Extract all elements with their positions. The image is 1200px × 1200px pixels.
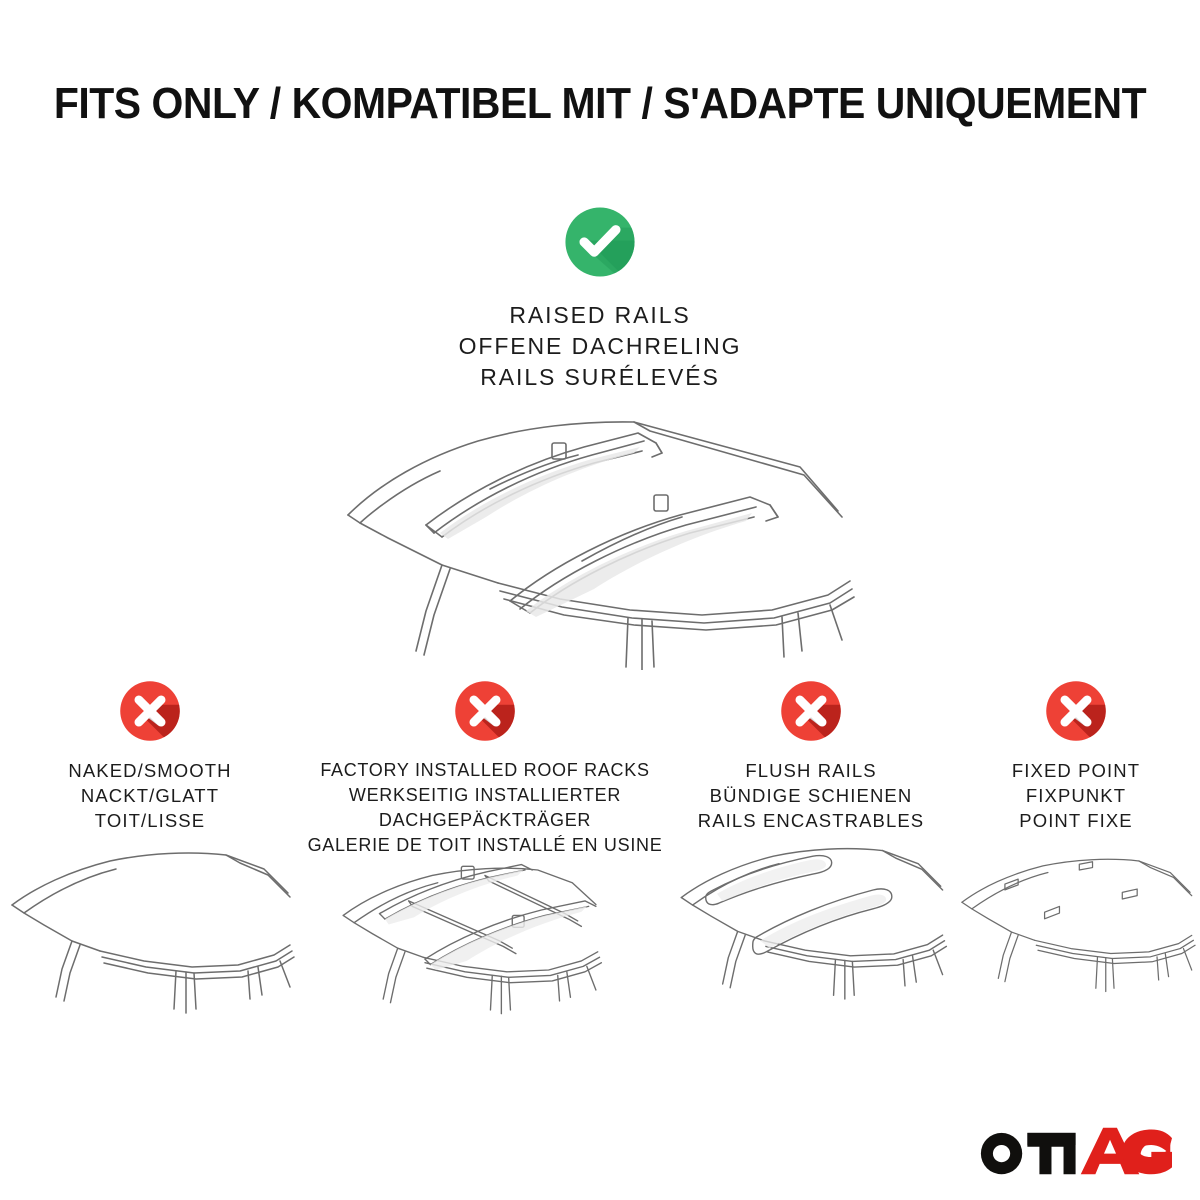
compatible-labels: RAISED RAILS OFFENE DACHRELING RAILS SUR…: [0, 300, 1200, 393]
x-circle-icon: [1045, 680, 1107, 742]
header: FITS ONLY / KOMPATIBEL MIT / S'ADAPTE UN…: [0, 78, 1200, 130]
incompatible-labels: NAKED/SMOOTH NACKT/GLATT TOIT/LISSE: [0, 758, 300, 833]
incompatible-label-fr: POINT FIXE: [952, 808, 1200, 833]
car-roof-raised-rails-illustration: [330, 405, 870, 670]
incompatible-labels: FACTORY INSTALLED ROOF RACKS WERKSEITIG …: [300, 758, 670, 858]
incompatible-labels: FLUSH RAILS BÜNDIGE SCHIENEN RAILS ENCAS…: [670, 758, 952, 833]
compatible-label-fr: RAILS SURÉLEVÉS: [0, 362, 1200, 393]
incompatible-item-naked-smooth: NAKED/SMOOTH NACKT/GLATT TOIT/LISSE: [0, 680, 300, 1047]
incompatible-label-de: NACKT/GLATT: [0, 783, 300, 808]
incompatible-label-fr: GALERIE DE TOIT INSTALLÉ EN USINE: [300, 833, 670, 858]
incompatible-label-en: FIXED POINT: [952, 758, 1200, 783]
incompatible-label-de-1: WERKSEITIG INSTALLIERTER: [300, 783, 670, 808]
compatible-label-de: OFFENE DACHRELING: [0, 331, 1200, 362]
omac-logo: [974, 1120, 1172, 1182]
x-circle-icon: [780, 680, 842, 742]
check-circle-icon: [564, 206, 636, 278]
incompatible-item-flush-rails: FLUSH RAILS BÜNDIGE SCHIENEN RAILS ENCAS…: [670, 680, 952, 1037]
compatible-section: RAISED RAILS OFFENE DACHRELING RAILS SUR…: [0, 206, 1200, 393]
compatible-label-en: RAISED RAILS: [0, 300, 1200, 331]
incompatible-labels: FIXED POINT FIXPUNKT POINT FIXE: [952, 758, 1200, 833]
incompatible-label-de: BÜNDIGE SCHIENEN: [670, 783, 952, 808]
x-circle-icon: [454, 680, 516, 742]
incompatible-label-fr: RAILS ENCASTRABLES: [670, 808, 952, 833]
incompatible-item-factory-roof-racks: FACTORY INSTALLED ROOF RACKS WERKSEITIG …: [300, 680, 670, 1050]
incompatible-label-en: FACTORY INSTALLED ROOF RACKS: [300, 758, 670, 783]
incompatible-label-en: FLUSH RAILS: [670, 758, 952, 783]
incompatible-item-fixed-point: FIXED POINT FIXPUNKT POINT FIXE: [952, 680, 1200, 1037]
car-roof-flush-rails-illustration: [670, 837, 952, 1037]
incompatible-label-en: NAKED/SMOOTH: [0, 758, 300, 783]
car-roof-fixed-point-illustration: [952, 837, 1200, 1037]
car-roof-factory-roof-racks-illustration: [300, 850, 670, 1050]
incompatible-label-de: FIXPUNKT: [952, 783, 1200, 808]
car-roof-naked-smooth-illustration: [0, 847, 300, 1047]
incompatible-section: NAKED/SMOOTH NACKT/GLATT TOIT/LISSE: [0, 680, 1200, 1050]
incompatible-label-fr: TOIT/LISSE: [0, 808, 300, 833]
x-circle-icon: [119, 680, 181, 742]
page-title: FITS ONLY / KOMPATIBEL MIT / S'ADAPTE UN…: [42, 78, 1158, 130]
compatibility-infographic: FITS ONLY / KOMPATIBEL MIT / S'ADAPTE UN…: [0, 0, 1200, 1200]
incompatible-label-de-2: DACHGEPÄCKTRÄGER: [300, 808, 670, 833]
